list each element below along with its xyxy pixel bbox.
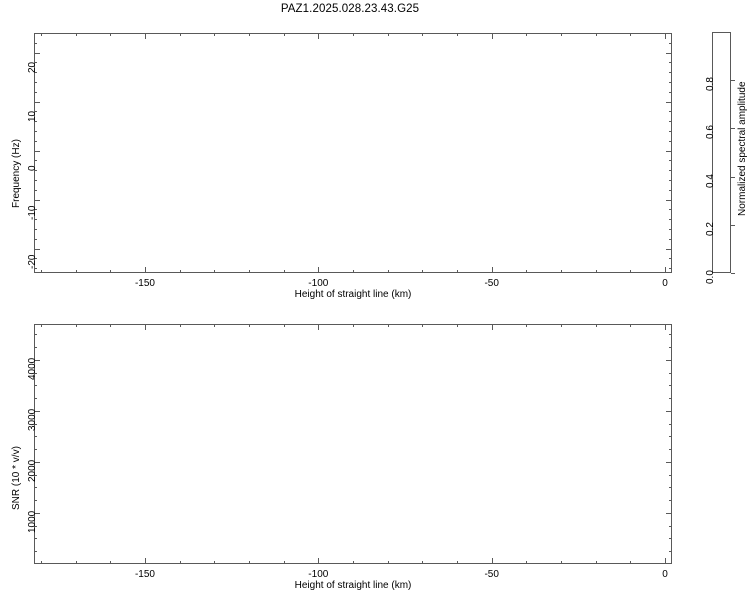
y-minor-tick: [34, 487, 37, 488]
x-minor-tick: [561, 324, 562, 327]
x-minor-tick: [180, 270, 181, 273]
y-minor-tick: [669, 475, 672, 476]
snr-frame: [34, 324, 672, 564]
x-minor-tick: [630, 33, 631, 36]
y-minor-tick: [669, 72, 672, 73]
colorbar: [712, 32, 731, 273]
y-minor-tick: [669, 151, 672, 152]
y-minor-tick: [34, 141, 37, 142]
y-minor-tick: [669, 209, 672, 210]
x-minor-tick: [526, 33, 527, 36]
x-minor-tick: [665, 324, 666, 327]
y-minor-tick: [669, 334, 672, 335]
y-tick-label: 2000: [27, 460, 38, 482]
y-minor-tick: [34, 551, 37, 552]
y-minor-tick: [669, 436, 672, 437]
x-minor-tick: [318, 33, 319, 36]
x-minor-tick: [561, 561, 562, 564]
spectrogram-frame: [34, 33, 672, 273]
x-minor-tick: [249, 324, 250, 327]
y-tick-label: 0: [27, 165, 38, 171]
x-minor-tick: [630, 561, 631, 564]
x-minor-tick: [596, 33, 597, 36]
x-minor-tick: [388, 324, 389, 327]
colorbar-tick: [731, 177, 735, 178]
y-tick-label: -20: [27, 254, 38, 268]
x-minor-tick: [284, 33, 285, 36]
y-minor-tick: [34, 43, 37, 44]
x-minor-tick: [596, 324, 597, 327]
y-minor-tick: [669, 538, 672, 539]
y-tick-label: 20: [27, 61, 38, 72]
y-tick-label: 3000: [27, 409, 38, 431]
y-minor-tick: [669, 121, 672, 122]
x-minor-tick: [388, 33, 389, 36]
y-minor-tick: [669, 500, 672, 501]
x-minor-tick: [596, 270, 597, 273]
x-minor-tick: [492, 33, 493, 36]
x-minor-tick: [630, 270, 631, 273]
x-tick-label: -150: [129, 569, 161, 580]
y-minor-tick: [669, 53, 672, 54]
x-minor-tick: [318, 561, 319, 564]
y-minor-tick: [669, 239, 672, 240]
x-minor-tick: [76, 324, 77, 327]
y-minor-tick: [669, 424, 672, 425]
x-minor-tick: [41, 270, 42, 273]
y-minor-tick: [34, 53, 37, 54]
x-minor-tick: [561, 33, 562, 36]
y-minor-tick: [669, 360, 672, 361]
colorbar-tick: [731, 225, 735, 226]
x-tick-label: 0: [649, 569, 681, 580]
x-minor-tick: [388, 270, 389, 273]
x-minor-tick: [145, 561, 146, 564]
y-tick-label: 4000: [27, 357, 38, 379]
x-minor-tick: [214, 324, 215, 327]
x-minor-tick: [492, 324, 493, 327]
x-minor-tick: [318, 270, 319, 273]
spectrogram-xaxis-label: Height of straight line (km): [233, 289, 473, 300]
y-minor-tick: [34, 500, 37, 501]
y-minor-tick: [34, 347, 37, 348]
x-minor-tick: [665, 270, 666, 273]
x-minor-tick: [214, 270, 215, 273]
y-minor-tick: [669, 411, 672, 412]
y-minor-tick: [669, 449, 672, 450]
y-tick-label: -10: [27, 205, 38, 219]
x-minor-tick: [526, 324, 527, 327]
y-minor-tick: [34, 385, 37, 386]
x-minor-tick: [353, 561, 354, 564]
y-minor-tick: [34, 449, 37, 450]
y-minor-tick: [669, 398, 672, 399]
colorbar-label: Normalized spectral amplitude: [737, 81, 748, 216]
y-minor-tick: [34, 92, 37, 93]
x-minor-tick: [76, 270, 77, 273]
y-minor-tick: [34, 151, 37, 152]
y-minor-tick: [34, 160, 37, 161]
x-minor-tick: [353, 270, 354, 273]
x-minor-tick: [214, 561, 215, 564]
spectrogram-panel: -150-100-50020100-10-20 Height of straig…: [0, 0, 700, 310]
x-minor-tick: [561, 270, 562, 273]
x-minor-tick: [110, 33, 111, 36]
figure-root: PAZ1.2025.028.23.43.G25 -150-100-5002010…: [0, 0, 750, 600]
y-minor-tick: [669, 462, 672, 463]
colorbar-tick-label: 0.8: [705, 77, 716, 91]
y-minor-tick: [34, 229, 37, 230]
y-minor-tick: [34, 82, 37, 83]
y-minor-tick: [669, 102, 672, 103]
y-minor-tick: [669, 170, 672, 171]
colorbar-tick-label: 0.6: [705, 125, 716, 139]
y-minor-tick: [669, 141, 672, 142]
y-minor-tick: [669, 160, 672, 161]
x-minor-tick: [353, 33, 354, 36]
y-tick-label: 10: [27, 110, 38, 121]
colorbar-tick: [731, 80, 735, 81]
y-minor-tick: [669, 111, 672, 112]
y-minor-tick: [34, 249, 37, 250]
x-minor-tick: [457, 33, 458, 36]
y-minor-tick: [669, 551, 672, 552]
x-minor-tick: [41, 33, 42, 36]
y-minor-tick: [34, 239, 37, 240]
colorbar-tick-label: 0.0: [705, 270, 716, 284]
x-tick-label: -150: [129, 278, 161, 289]
spectrogram-yaxis-label: Frequency (Hz): [11, 139, 22, 208]
x-minor-tick: [41, 324, 42, 327]
colorbar-tick: [731, 128, 735, 129]
x-minor-tick: [457, 324, 458, 327]
y-minor-tick: [669, 43, 672, 44]
y-minor-tick: [669, 229, 672, 230]
x-minor-tick: [145, 324, 146, 327]
colorbar-tick-label: 0.2: [705, 222, 716, 236]
x-minor-tick: [526, 270, 527, 273]
colorbar-gradient: [712, 32, 731, 273]
y-minor-tick: [669, 347, 672, 348]
x-minor-tick: [76, 33, 77, 36]
y-minor-tick: [34, 538, 37, 539]
x-minor-tick: [249, 270, 250, 273]
x-minor-tick: [41, 561, 42, 564]
y-minor-tick: [34, 131, 37, 132]
x-tick-label: -100: [302, 278, 334, 289]
x-minor-tick: [422, 270, 423, 273]
x-minor-tick: [249, 33, 250, 36]
x-minor-tick: [422, 33, 423, 36]
y-minor-tick: [669, 200, 672, 201]
x-minor-tick: [457, 561, 458, 564]
y-minor-tick: [34, 334, 37, 335]
y-minor-tick: [669, 190, 672, 191]
x-minor-tick: [110, 561, 111, 564]
y-minor-tick: [669, 92, 672, 93]
x-minor-tick: [214, 33, 215, 36]
y-minor-tick: [669, 62, 672, 63]
x-tick-label: -50: [476, 569, 508, 580]
x-minor-tick: [665, 561, 666, 564]
y-minor-tick: [34, 102, 37, 103]
x-minor-tick: [596, 561, 597, 564]
x-minor-tick: [422, 561, 423, 564]
x-minor-tick: [110, 324, 111, 327]
x-minor-tick: [422, 324, 423, 327]
x-minor-tick: [388, 561, 389, 564]
snr-panel: -150-100-5001000200030004000 Height of s…: [0, 315, 700, 600]
x-minor-tick: [665, 33, 666, 36]
y-minor-tick: [669, 513, 672, 514]
x-tick-label: -50: [476, 278, 508, 289]
x-minor-tick: [457, 270, 458, 273]
y-minor-tick: [669, 258, 672, 259]
y-minor-tick: [34, 200, 37, 201]
y-minor-tick: [34, 436, 37, 437]
x-minor-tick: [526, 561, 527, 564]
x-minor-tick: [284, 561, 285, 564]
x-minor-tick: [318, 324, 319, 327]
x-tick-label: -100: [302, 569, 334, 580]
colorbar-tick-label: 0.4: [705, 174, 716, 188]
x-minor-tick: [180, 324, 181, 327]
x-minor-tick: [353, 324, 354, 327]
colorbar-tick: [731, 273, 735, 274]
x-minor-tick: [110, 270, 111, 273]
x-minor-tick: [492, 270, 493, 273]
x-minor-tick: [180, 33, 181, 36]
x-tick-label: 0: [649, 278, 681, 289]
y-minor-tick: [34, 180, 37, 181]
y-tick-label: 1000: [27, 511, 38, 533]
x-minor-tick: [249, 561, 250, 564]
y-minor-tick: [669, 373, 672, 374]
x-minor-tick: [630, 324, 631, 327]
y-minor-tick: [34, 190, 37, 191]
x-minor-tick: [284, 324, 285, 327]
y-minor-tick: [669, 526, 672, 527]
snr-yaxis-label: SNR (10 * v/v): [11, 446, 22, 510]
x-minor-tick: [180, 561, 181, 564]
y-minor-tick: [669, 268, 672, 269]
y-minor-tick: [34, 398, 37, 399]
y-minor-tick: [669, 487, 672, 488]
x-minor-tick: [145, 33, 146, 36]
x-minor-tick: [492, 561, 493, 564]
y-minor-tick: [669, 180, 672, 181]
x-minor-tick: [284, 270, 285, 273]
y-minor-tick: [669, 131, 672, 132]
snr-xaxis-label: Height of straight line (km): [233, 580, 473, 591]
y-minor-tick: [669, 249, 672, 250]
x-minor-tick: [145, 270, 146, 273]
y-minor-tick: [669, 385, 672, 386]
y-minor-tick: [669, 82, 672, 83]
x-minor-tick: [76, 561, 77, 564]
y-minor-tick: [669, 219, 672, 220]
